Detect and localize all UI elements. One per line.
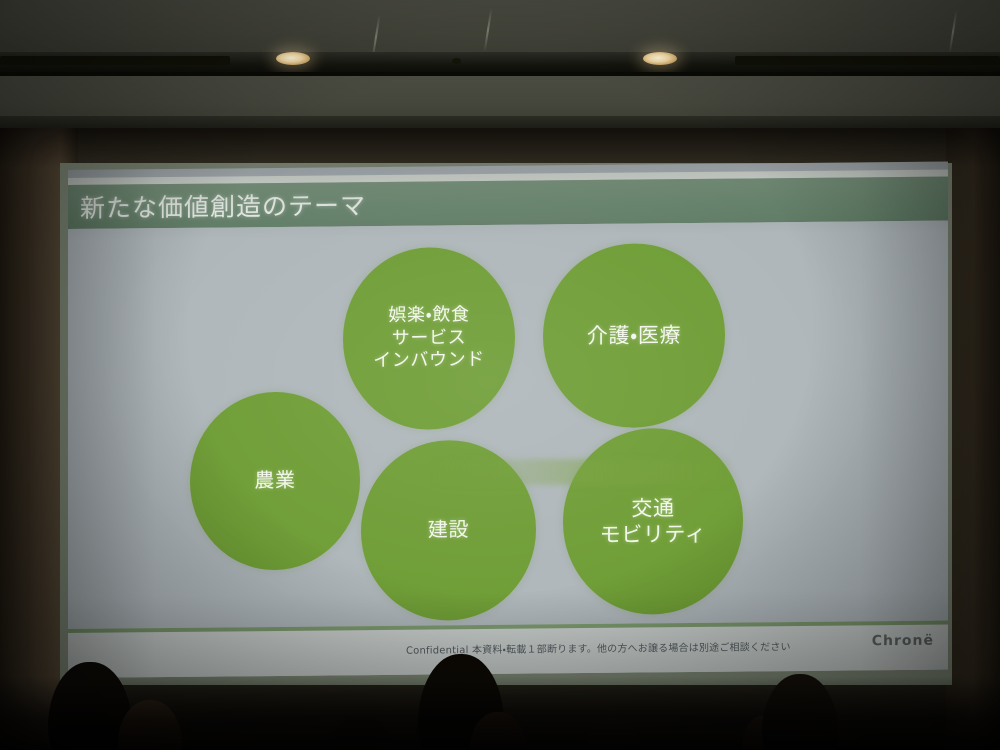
ceiling [0, 0, 1000, 60]
footer-logo: Chronë [872, 633, 934, 650]
bubble-entertainment-food-service-inbound: 娯楽・飲食 サービス インバウンド [343, 247, 515, 431]
bubble-agriculture: 農業 [190, 391, 360, 571]
ceiling-vent [452, 58, 461, 64]
bubble-transport-mobility-label: 交通 モビリティ [594, 494, 713, 548]
ceiling-light-slot [0, 56, 230, 65]
right-wall [946, 128, 1000, 750]
slide-title: 新たな価値創造のテーマ [80, 186, 366, 225]
slide-footer: Confidential 本資料・転載１部断ります。他の方へお譲る場合は別途ご相… [68, 621, 948, 678]
bubble-construction: 建設 [361, 440, 536, 622]
bubble-care-medical: 介護・医療 [543, 243, 725, 429]
ceiling-light-slot [735, 56, 1000, 65]
bubble-care-medical-label: 介護・医療 [581, 322, 687, 349]
bubble-transport-mobility: 交通 モビリティ [563, 428, 743, 616]
footer-confidentiality-note: Confidential 本資料・転載１部断ります。他の方へお譲る場合は別途ご相… [406, 638, 791, 657]
bubble-agriculture-label: 農業 [248, 468, 301, 494]
ceiling-downlight [643, 52, 677, 65]
conference-room-photo: 新たな価値創造のテーマ 農業 娯楽・飲食 サービス インバウンド 介護・医療 建… [0, 0, 1000, 750]
projected-slide: 新たな価値創造のテーマ 農業 娯楽・飲食 サービス インバウンド 介護・医療 建… [68, 162, 948, 678]
bubble-construction-label: 建設 [422, 517, 475, 543]
ceiling-soffit [0, 76, 1000, 120]
slide-body: 農業 娯楽・飲食 サービス インバウンド 介護・医療 建設 交通 モビリティ [68, 221, 948, 629]
bubble-entertainment-label: 娯楽・飲食 サービス インバウンド [367, 304, 491, 373]
ceiling-downlight [276, 52, 310, 65]
